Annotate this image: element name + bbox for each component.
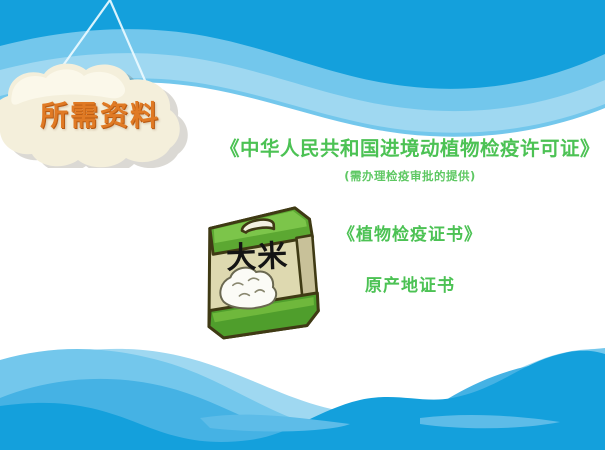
required-documents-list: 《中华人民共和国进境动植物检疫许可证》 (需办理检疫审批的提供) 《植物检疫证书… [215, 132, 605, 296]
document-item: 《植物检疫证书》 [215, 220, 605, 245]
document-item: 原产地证书 [215, 271, 605, 296]
slide-title: 所需资料 [0, 60, 200, 168]
document-note: (需办理检疫审批的提供) [215, 168, 605, 184]
document-title: 《中华人民共和国进境动植物检疫许可证》 [215, 132, 605, 161]
slide-canvas: 所需资料 [0, 0, 605, 450]
title-cloud-badge: 所需资料 [0, 60, 200, 168]
document-title: 《植物检疫证书》 [215, 220, 605, 245]
document-item: 《中华人民共和国进境动植物检疫许可证》 (需办理检疫审批的提供) [215, 132, 605, 184]
document-title: 原产地证书 [215, 271, 605, 296]
